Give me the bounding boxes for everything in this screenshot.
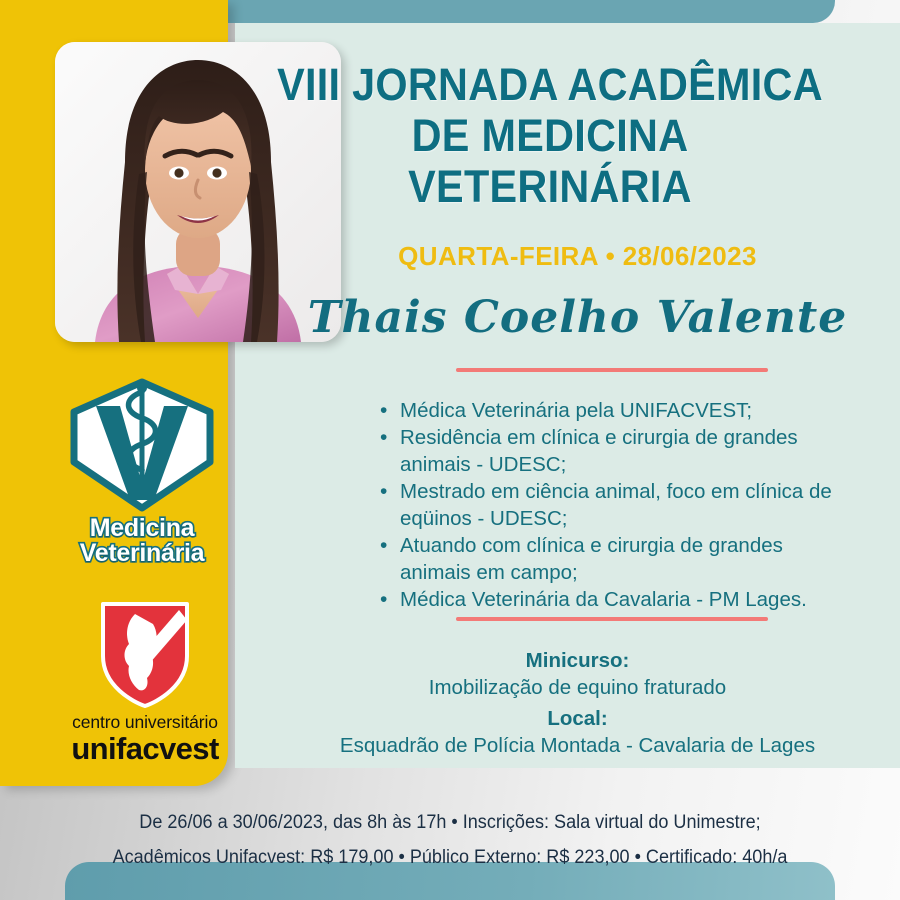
speaker-bio-list: Médica Veterinária pela UNIFACVEST; Resi… — [378, 398, 848, 615]
footer-line-2: Acadêmicos Unifacvest: R$ 179,00 • Públi… — [23, 840, 878, 875]
footer-info: De 26/06 a 30/06/2023, das 8h às 17h • I… — [0, 805, 900, 875]
divider-bottom — [456, 617, 768, 621]
local-label: Local: — [245, 705, 900, 732]
event-date: QUARTA-FEIRA • 28/06/2023 — [245, 241, 900, 272]
list-item: Atuando com clínica e cirurgia de grande… — [378, 533, 848, 586]
minicurso-value: Imobilização de equino fraturado — [429, 676, 726, 699]
title-line-2: DE MEDICINA VETERINÁRIA — [269, 111, 830, 213]
title-line-1: VIII JORNADA ACADÊMICA — [269, 60, 830, 111]
unifacvest-logo: centro universitário unifacvest — [70, 600, 220, 764]
vet-shield-caduceus-icon — [62, 378, 222, 512]
minicurso-label: Minicurso: — [245, 647, 900, 674]
local-value: Esquadrão de Polícia Montada - Cavalaria… — [340, 734, 815, 757]
footer-line-1: De 26/06 a 30/06/2023, das 8h às 17h • I… — [23, 805, 878, 840]
vet-logo-text: Medicina Veterinária — [62, 516, 222, 566]
speaker-name: Thais Coelho Valente — [245, 292, 900, 343]
list-item: Residência em clínica e cirurgia de gran… — [378, 425, 848, 478]
medicina-veterinaria-logo: Medicina Veterinária — [62, 378, 222, 566]
unifacvest-wordmark: unifacvest — [70, 733, 220, 764]
local-block: Local: Esquadrão de Polícia Montada - Ca… — [245, 705, 900, 759]
minicurso-block: Minicurso: Imobilização de equino fratur… — [245, 647, 900, 701]
list-item: Mestrado em ciência animal, foco em clín… — [378, 479, 848, 532]
unifacvest-tagline: centro universitário — [70, 712, 220, 733]
poster-title: VIII JORNADA ACADÊMICA DE MEDICINA VETER… — [269, 60, 830, 213]
list-item: Médica Veterinária pela UNIFACVEST; — [378, 398, 848, 424]
list-item: Médica Veterinária da Cavalaria - PM Lag… — [378, 587, 848, 613]
unifacvest-shield-icon — [95, 600, 195, 710]
vet-logo-line-2: Veterinária — [62, 541, 222, 566]
vet-logo-line-1: Medicina — [62, 516, 222, 541]
divider-top — [456, 368, 768, 372]
